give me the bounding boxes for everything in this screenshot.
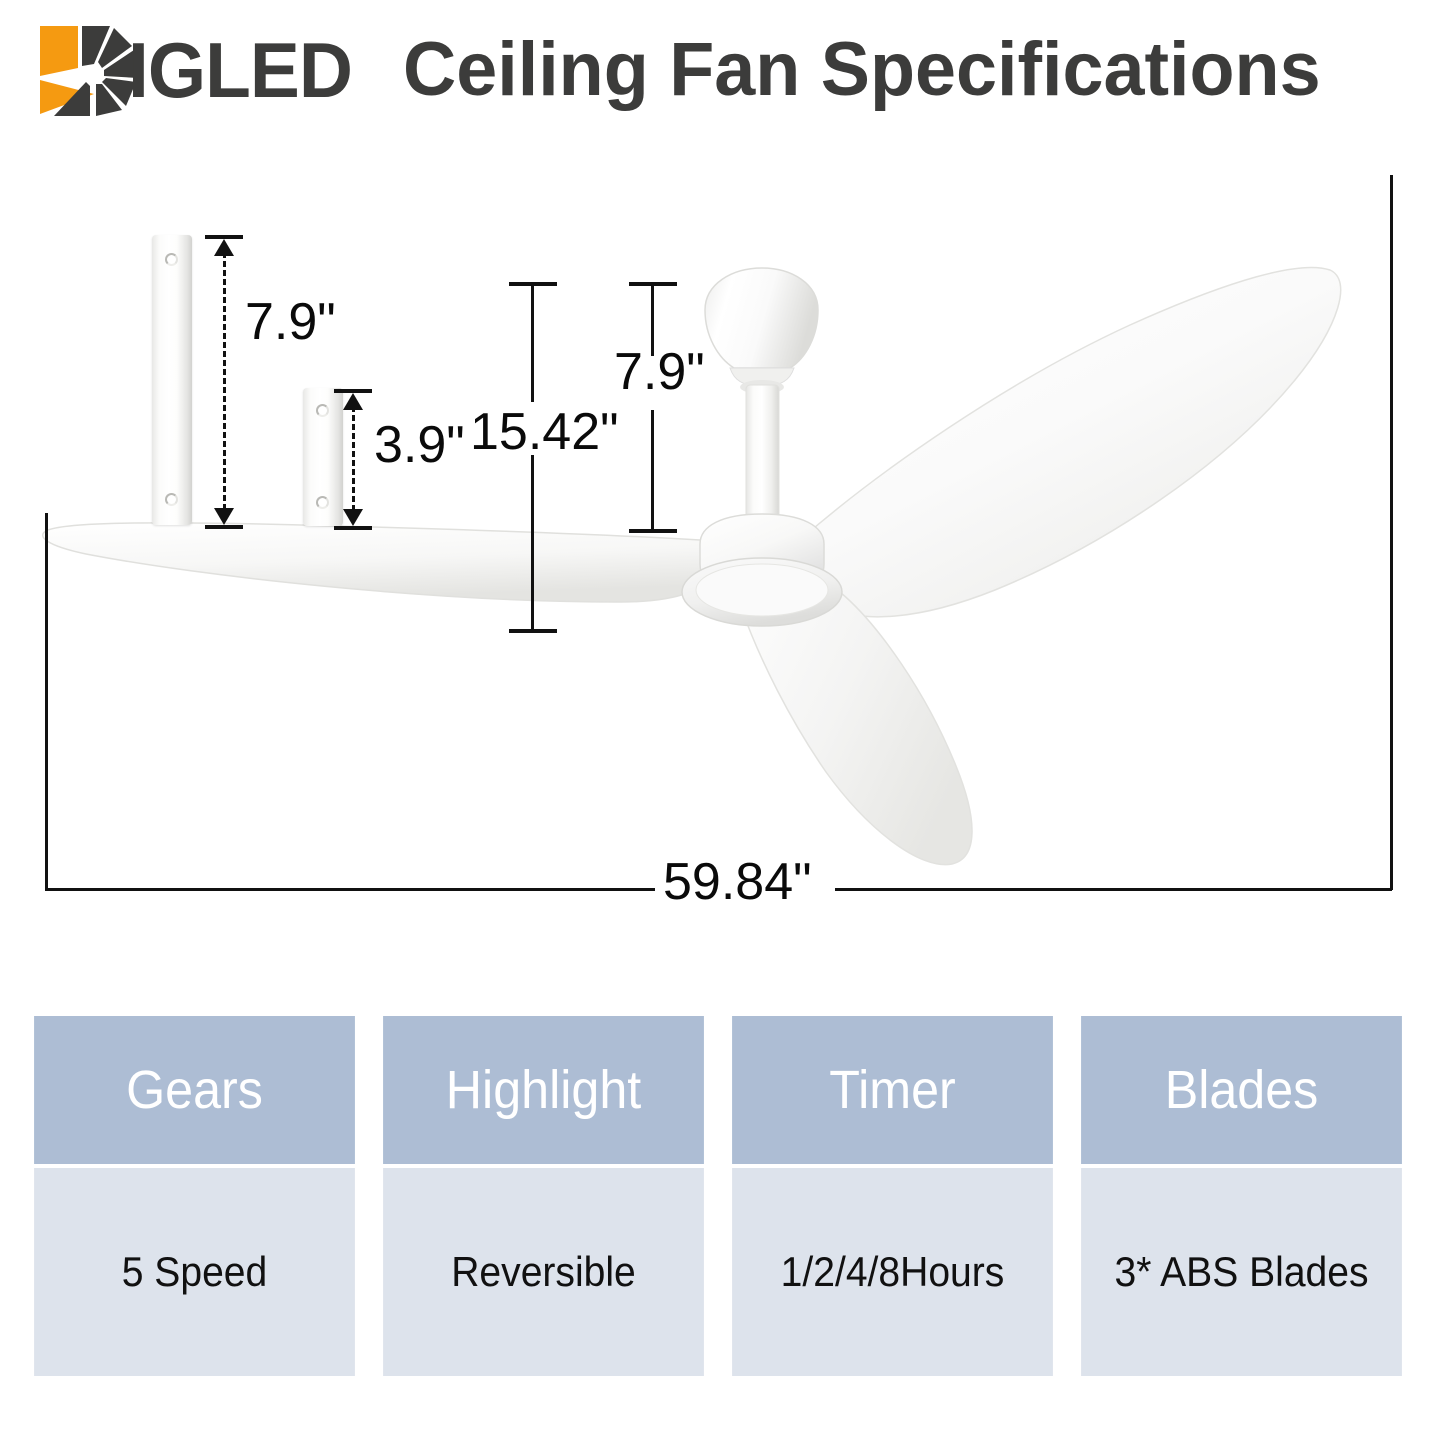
rod-screw-hole bbox=[165, 253, 178, 266]
dim-line-upper bbox=[531, 282, 534, 402]
page-header: IGLED Ceiling Fan Specifications bbox=[0, 0, 1445, 140]
page-title: Ceiling Fan Specifications bbox=[403, 32, 1321, 108]
table-cell-gears: 5 Speed bbox=[34, 1168, 355, 1376]
table-header-gears: Gears bbox=[34, 1016, 355, 1164]
dim-cap-bottom bbox=[205, 525, 243, 529]
rod-screw-hole bbox=[316, 496, 329, 509]
downrod-short-graphic bbox=[303, 388, 343, 526]
dim-line-lower bbox=[651, 410, 654, 530]
specification-table: Gears Highlight Timer Blades 5 Speed Rev… bbox=[18, 1012, 1418, 1380]
table-header-row: Gears Highlight Timer Blades bbox=[22, 1016, 1414, 1164]
dim-line-span-left bbox=[45, 888, 655, 891]
dim-line-span-right bbox=[835, 888, 1392, 891]
rod-screw-hole bbox=[165, 493, 178, 506]
rod-screw-hole bbox=[316, 404, 329, 417]
extension-line-left bbox=[45, 513, 48, 890]
dim-dashed-line bbox=[352, 406, 355, 511]
dim-line-lower bbox=[531, 455, 534, 630]
product-spec-page: IGLED Ceiling Fan Specifications bbox=[0, 0, 1445, 1445]
dim-arrowhead-down bbox=[214, 508, 234, 525]
dim-cap-bottom bbox=[509, 629, 557, 633]
dim-cap-bottom bbox=[629, 529, 677, 533]
extension-line-right bbox=[1390, 175, 1393, 890]
dim-arrowhead-down bbox=[343, 509, 363, 526]
table-header-blades: Blades bbox=[1081, 1016, 1402, 1164]
table-row: 5 Speed Reversible 1/2/4/8Hours 3* ABS B… bbox=[22, 1168, 1414, 1376]
table-header-timer: Timer bbox=[732, 1016, 1053, 1164]
table-cell-highlight: Reversible bbox=[383, 1168, 704, 1376]
dimension-label-total-height: 15.42" bbox=[470, 402, 619, 462]
dimension-label-drop-height: 7.9" bbox=[614, 342, 705, 402]
dimension-label-blade-span: 59.84" bbox=[663, 852, 812, 912]
dimension-label-downrod-short: 3.9" bbox=[374, 415, 465, 475]
downrod-long-graphic bbox=[152, 235, 192, 525]
table-cell-timer: 1/2/4/8Hours bbox=[732, 1168, 1053, 1376]
dim-cap-bottom bbox=[334, 526, 372, 530]
brand-wordmark: IGLED bbox=[128, 31, 352, 109]
table-cell-blades: 3* ABS Blades bbox=[1081, 1168, 1402, 1376]
table-header-highlight: Highlight bbox=[383, 1016, 704, 1164]
dim-dashed-line bbox=[223, 252, 226, 510]
dimension-label-downrod-long: 7.9" bbox=[245, 292, 336, 352]
fan-dimension-diagram: 7.9" 3.9" 15.42" 7.9" 59.84" bbox=[0, 140, 1445, 990]
